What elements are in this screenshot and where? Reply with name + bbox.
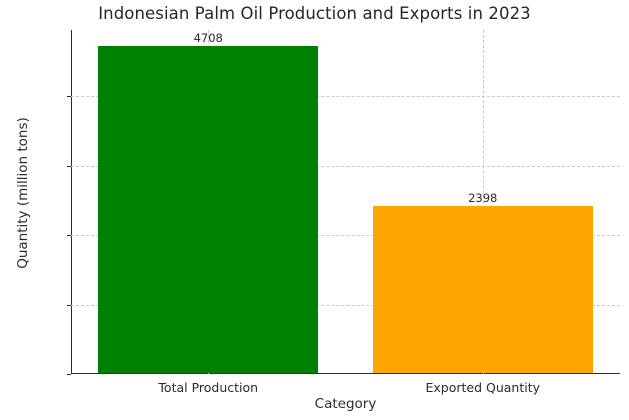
bar-2[interactable] — [373, 206, 593, 373]
x-axis-title: Category — [71, 396, 620, 412]
bar-value-label: 4708 — [194, 31, 223, 45]
y-axis-title: Quantity (million tons) — [15, 83, 31, 303]
x-tick-label: Total Production — [158, 380, 258, 395]
x-axis-spine — [71, 373, 620, 374]
y-tick-mark — [67, 96, 71, 97]
chart-figure: Indonesian Palm Oil Production and Expor… — [0, 0, 629, 420]
plot-area: 01000200030004000 47082398 Total Product… — [71, 30, 620, 374]
bar-1[interactable] — [98, 46, 318, 373]
chart-title: Indonesian Palm Oil Production and Expor… — [0, 4, 629, 23]
y-tick-mark — [67, 166, 71, 167]
x-tick-label: Exported Quantity — [425, 380, 540, 395]
y-tick-mark — [67, 235, 71, 236]
bar-value-label: 2398 — [468, 191, 497, 205]
y-axis-spine — [71, 30, 72, 374]
y-tick-mark — [67, 305, 71, 306]
y-tick-mark — [67, 374, 71, 375]
